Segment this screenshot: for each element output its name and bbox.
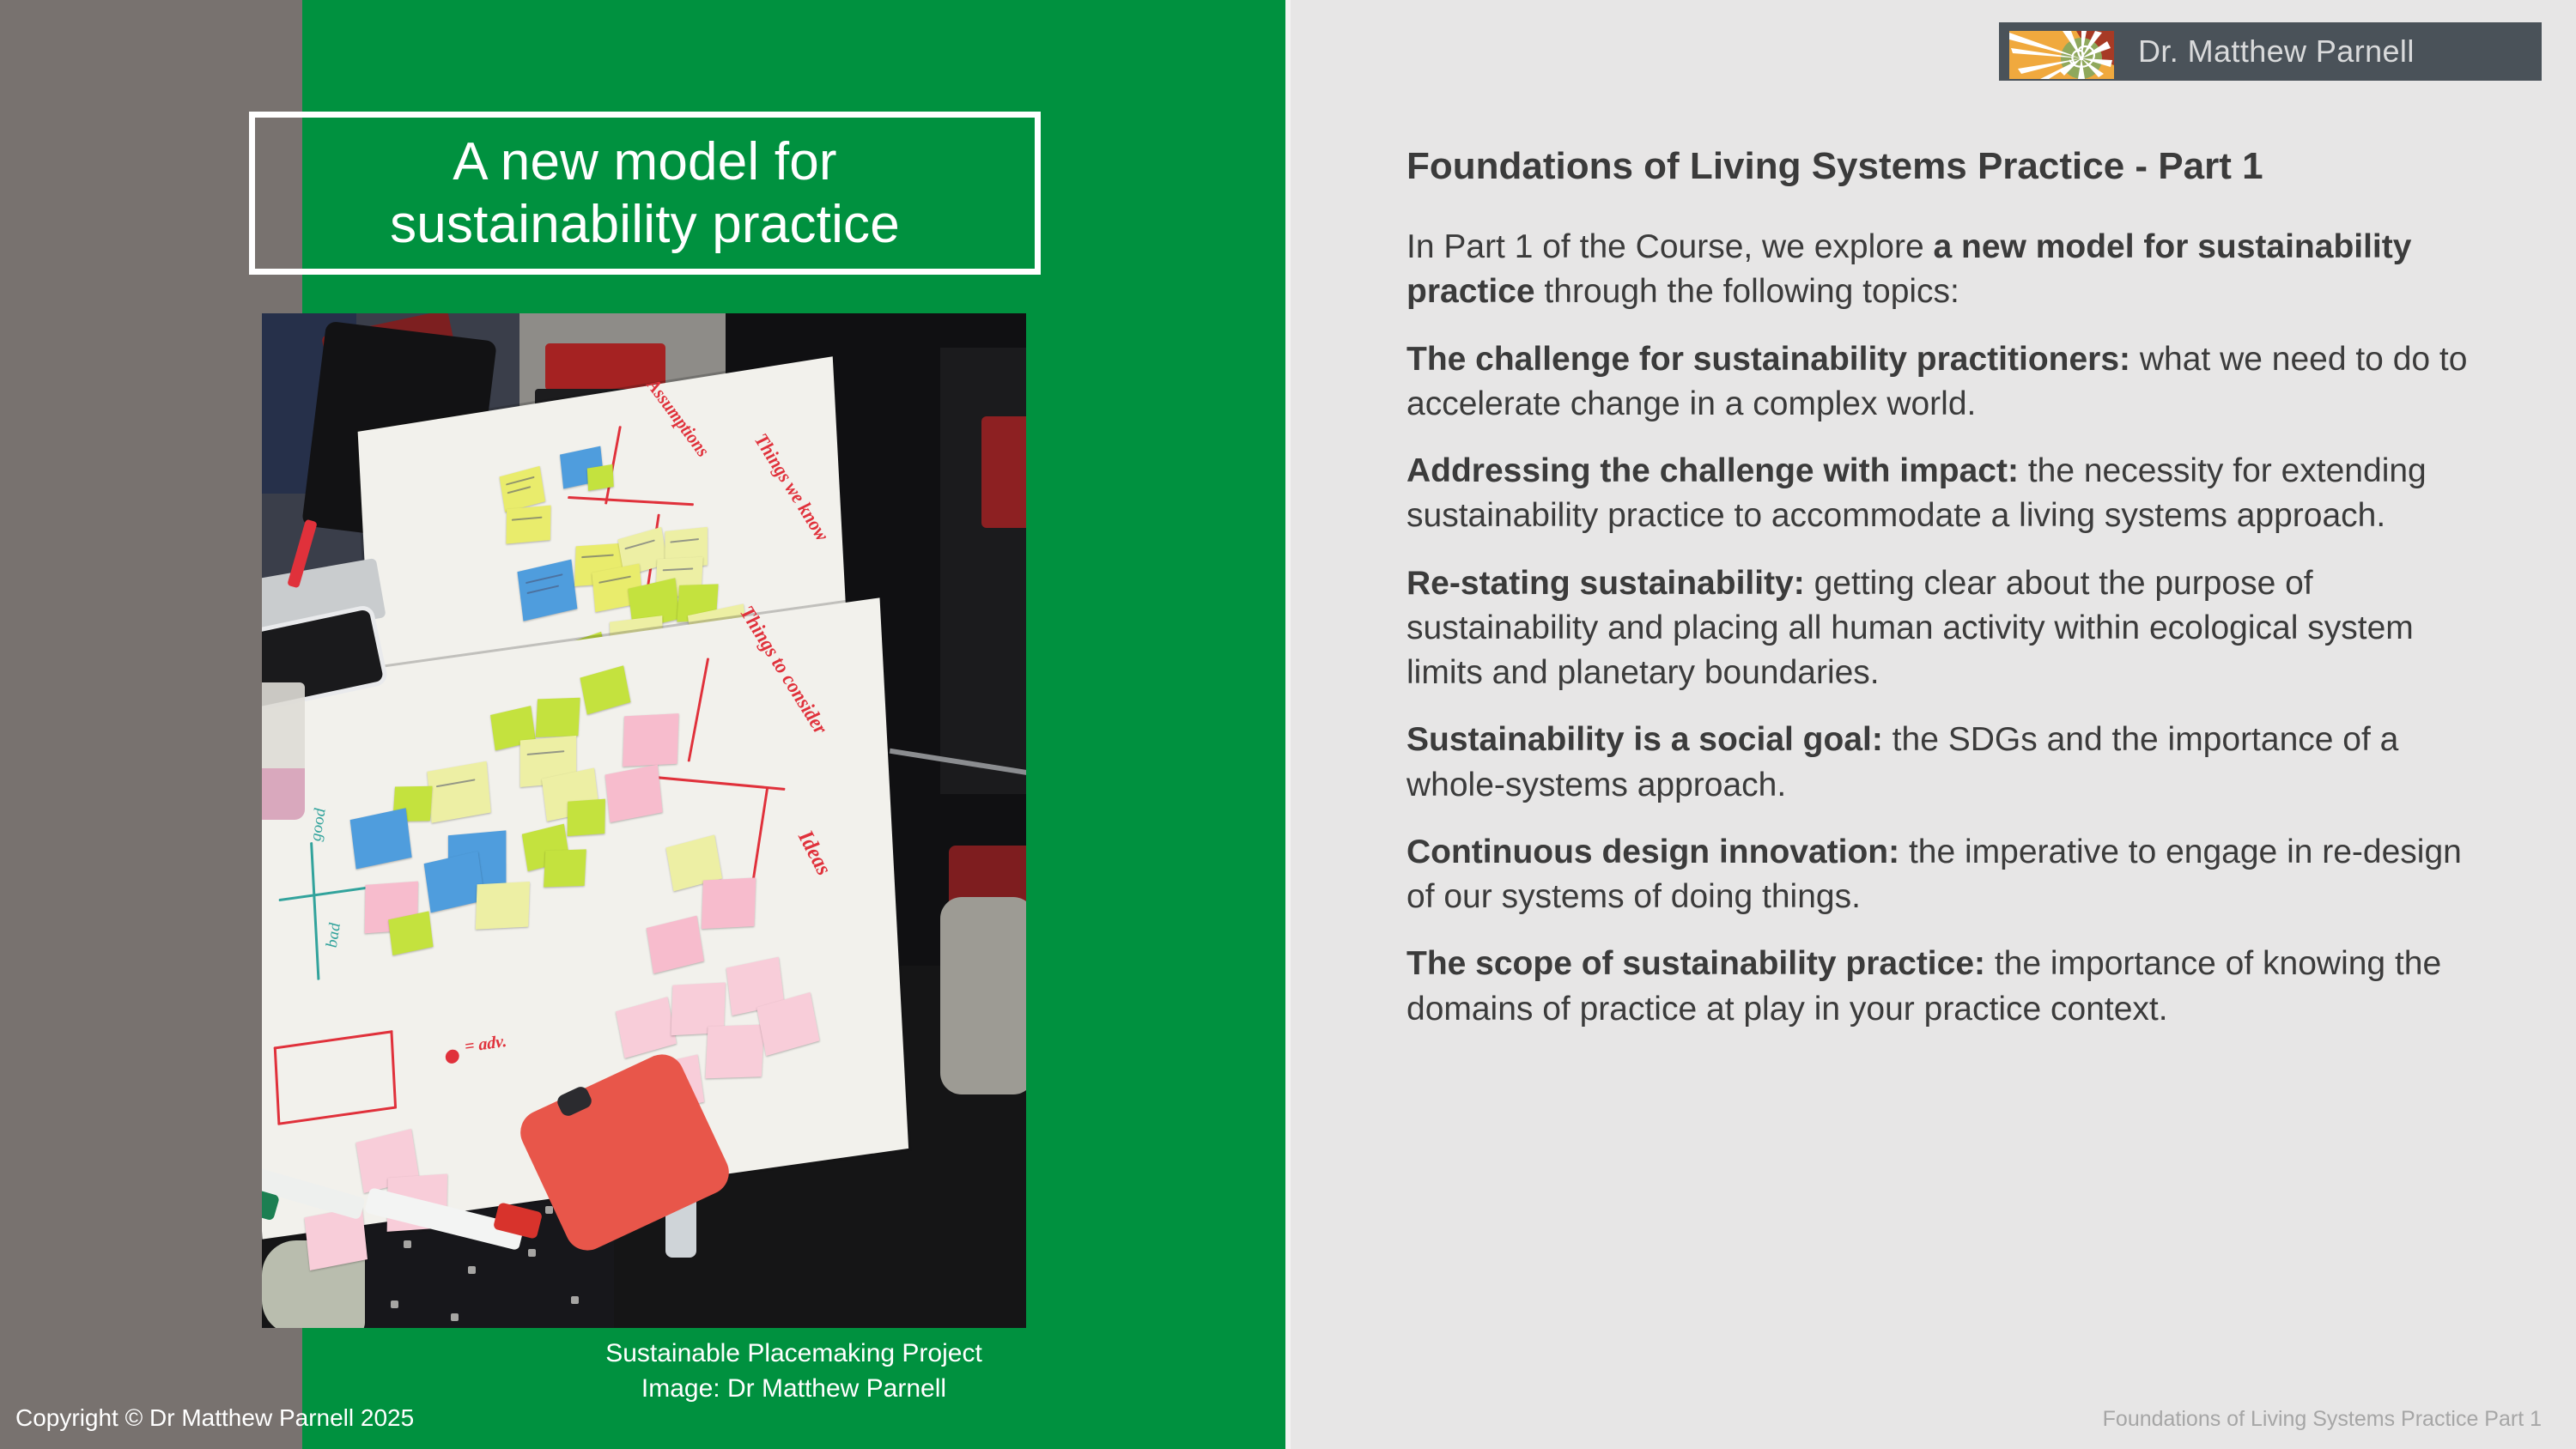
topic-paragraph-6: The scope of sustainability practice: th… <box>1406 942 2480 1032</box>
topic-paragraph-3: Re-stating sustainability: getting clear… <box>1406 561 2480 696</box>
topic-paragraph-1: The challenge for sustainability practit… <box>1406 337 2480 427</box>
intro-paragraph: In Part 1 of the Course, we explore a ne… <box>1406 225 2480 315</box>
photo-label-ideas: Ideas <box>793 827 835 881</box>
topic-3-title: Re-stating sustainability: <box>1406 565 1805 602</box>
topic-1-title: The challenge for sustainability practit… <box>1406 341 2130 378</box>
brand-name: Dr. Matthew Parnell <box>2138 22 2415 81</box>
slide-canvas: A new model for sustainability practice <box>0 0 2576 1449</box>
photo-label-things-to-consider: Things to consider <box>735 602 831 739</box>
photo-caption-line2: Image: Dr Matthew Parnell <box>302 1371 1285 1406</box>
photo-label-good: good <box>307 808 330 842</box>
intro-lead: In Part 1 of the Course, we explore <box>1406 228 1934 265</box>
spiral-nautilus-logo-icon <box>2009 31 2114 79</box>
photo-caption-line1: Sustainable Placemaking Project <box>302 1336 1285 1371</box>
slide-title-line2: sustainability practice <box>390 195 900 254</box>
topic-2-title: Addressing the challenge with impact: <box>1406 452 2019 489</box>
intro-rest: through the following topics: <box>1535 273 1959 310</box>
topic-4-title: Sustainability is a social goal: <box>1406 721 1883 758</box>
photo-caption: Sustainable Placemaking Project Image: D… <box>302 1336 1285 1407</box>
photo-grey-cloth <box>940 897 1026 1094</box>
topic-paragraph-2: Addressing the challenge with impact: th… <box>1406 449 2480 539</box>
photo-cup-base <box>262 768 305 820</box>
page-title: Foundations of Living Systems Practice -… <box>1406 144 2514 189</box>
slide-title-box: A new model for sustainability practice <box>249 112 1041 275</box>
slide-title-line1: A new model for <box>453 132 837 191</box>
slide-title: A new model for sustainability practice <box>371 130 919 256</box>
slide-footer: Foundations of Living Systems Practice P… <box>2103 1407 2542 1432</box>
topic-6-title: The scope of sustainability practice: <box>1406 945 1985 982</box>
photo-dark-coat-2 <box>940 348 1026 794</box>
copyright-notice: Copyright © Dr Matthew Parnell 2025 <box>15 1404 414 1432</box>
topics-list: In Part 1 of the Course, we explore a ne… <box>1406 225 2480 1054</box>
topic-paragraph-4: Sustainability is a social goal: the SDG… <box>1406 718 2480 808</box>
workshop-photo: Assumptions Things we know <box>262 313 1026 1328</box>
photo-label-legend: = adv. <box>465 1032 507 1058</box>
topic-5-title: Continuous design innovation: <box>1406 834 1899 870</box>
photo-content: Assumptions Things we know <box>262 313 1026 1328</box>
photo-label-things-we-know: Things we know <box>750 429 834 546</box>
photo-chair-red-right <box>981 416 1026 528</box>
topic-paragraph-5: Continuous design innovation: the impera… <box>1406 830 2480 920</box>
photo-label-bad: bad <box>323 922 345 948</box>
photo-label-assumptions: Assumptions <box>642 374 714 462</box>
